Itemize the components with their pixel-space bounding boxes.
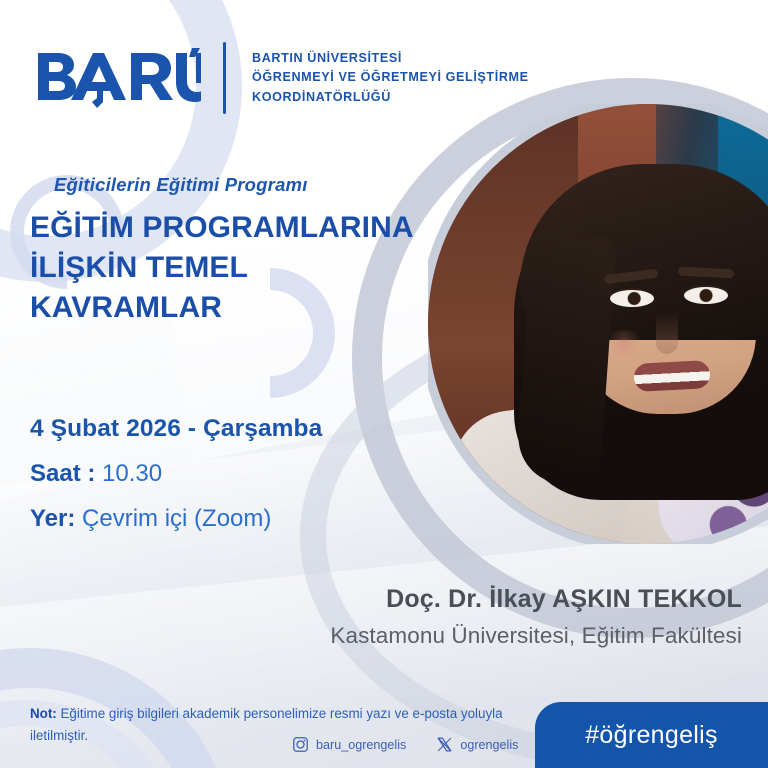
instagram-handle: baru_ogrengelis xyxy=(316,738,406,752)
speaker-block: Doç. Dr. İlkay AŞKIN TEKKOL Kastamonu Ün… xyxy=(0,585,742,649)
footer-note-label: Not: xyxy=(30,706,57,721)
hashtag-label: #öğrengeliş xyxy=(585,721,718,750)
speaker-photo xyxy=(428,104,768,544)
speaker-name: Doç. Dr. İlkay AŞKIN TEKKOL xyxy=(0,585,742,614)
event-title-line-3: KAVRAMLAR xyxy=(30,288,430,328)
baru-logo xyxy=(36,47,201,109)
event-title: EĞİTİM PROGRAMLARINA İLİŞKİN TEMEL KAVRA… xyxy=(30,208,430,328)
event-time-label: Saat : xyxy=(30,460,95,487)
event-place-row: Yer: Çevrim içi (Zoom) xyxy=(30,505,450,533)
hashtag-badge[interactable]: #öğrengeliş xyxy=(535,702,768,768)
org-line-1: BARTIN ÜNİVERSİTESİ xyxy=(252,49,529,69)
x-twitter-icon xyxy=(436,736,453,753)
header-divider xyxy=(223,42,226,114)
program-kicker: Eğiticilerin Eğitimi Programı xyxy=(54,174,308,196)
event-title-line-1: EĞİTİM PROGRAMLARINA xyxy=(30,208,430,248)
speaker-affiliation: Kastamonu Üniversitesi, Eğitim Fakültesi xyxy=(0,623,742,649)
speaker-photo-frame xyxy=(428,104,768,544)
x-handle: ogrengelis xyxy=(460,738,518,752)
social-x[interactable]: ogrengelis xyxy=(436,736,518,753)
event-time-value: 10.30 xyxy=(102,460,162,487)
event-place-value: Çevrim içi (Zoom) xyxy=(82,505,271,532)
event-details: 4 Şubat 2026 - Çarşamba Saat : 10.30 Yer… xyxy=(30,415,450,533)
event-place-label: Yer: xyxy=(30,505,75,532)
event-time-row: Saat : 10.30 xyxy=(30,460,450,488)
organization-name: BARTIN ÜNİVERSİTESİ ÖĞRENMEYİ VE ÖĞRETME… xyxy=(252,49,529,108)
event-poster: BARTIN ÜNİVERSİTESİ ÖĞRENMEYİ VE ÖĞRETME… xyxy=(0,0,768,768)
event-title-line-2: İLİŞKİN TEMEL xyxy=(30,248,430,288)
social-instagram[interactable]: baru_ogrengelis xyxy=(292,736,406,753)
social-links: baru_ogrengelis ogrengelis xyxy=(292,736,518,753)
instagram-icon xyxy=(292,736,309,753)
event-date: 4 Şubat 2026 - Çarşamba xyxy=(30,415,450,443)
org-line-2: ÖĞRENMEYİ VE ÖĞRETMEYİ GELİŞTİRME xyxy=(252,68,529,88)
